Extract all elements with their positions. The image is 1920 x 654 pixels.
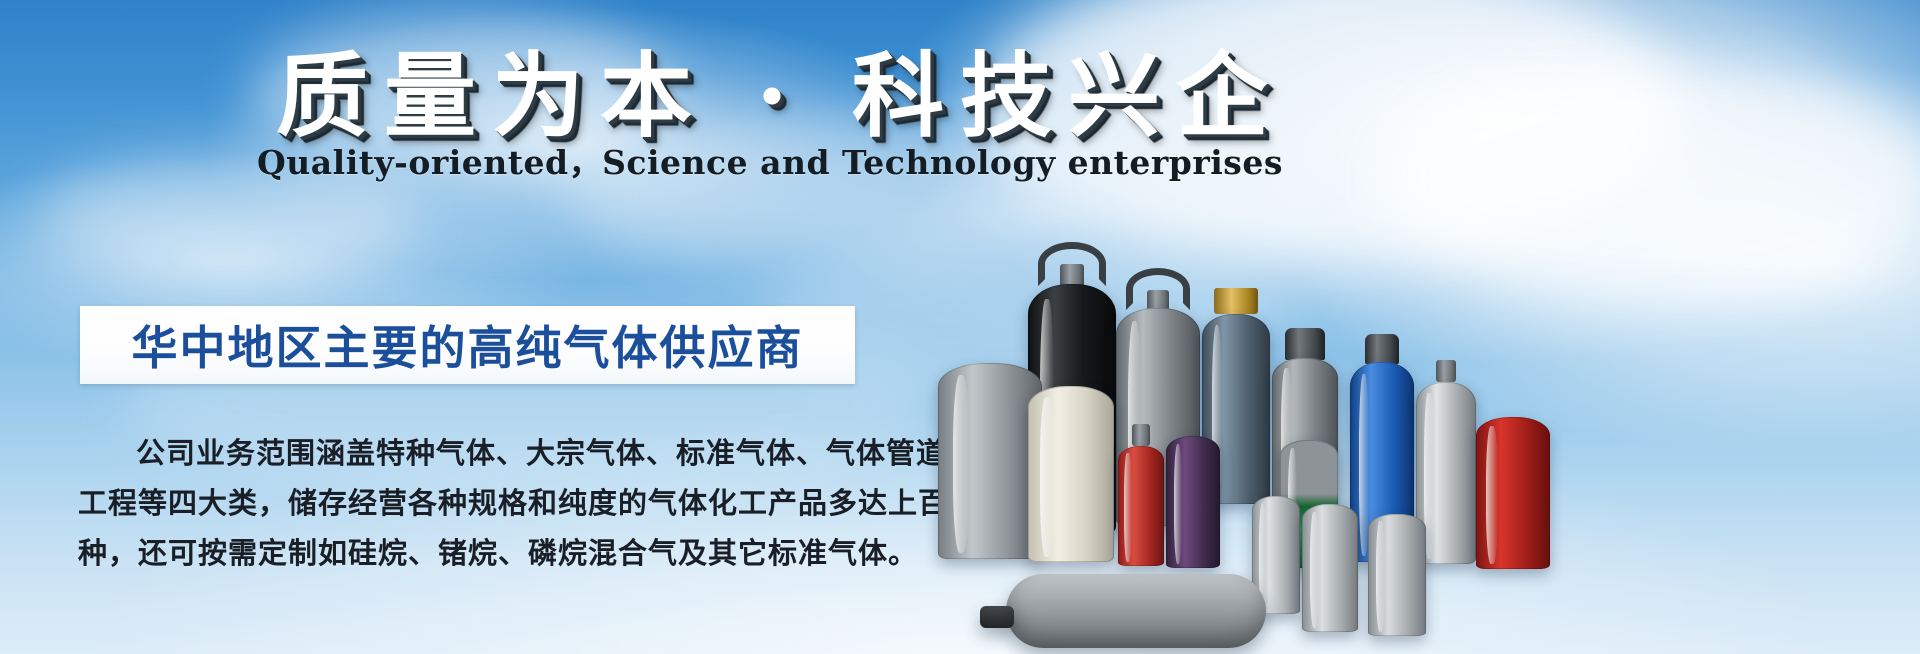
small-silver-cylinder	[1368, 514, 1426, 636]
cylinder-highlight	[1174, 444, 1183, 564]
horizontal-tank-valve	[980, 606, 1014, 628]
slogan-text: 华中地区主要的高纯气体供应商	[132, 312, 804, 378]
light-grey-cylinder	[938, 363, 1042, 559]
banner-body-copy: 公司业务范围涵盖特种气体、大宗气体、标准气体、气体管道 工程等四大类，储存经营各…	[78, 428, 868, 578]
cylinder-highlight	[1124, 453, 1131, 562]
horizontal-grey-tank	[1006, 574, 1266, 648]
body-line-1: 公司业务范围涵盖特种气体、大宗气体、标准气体、气体管道	[78, 428, 868, 478]
gas-cylinder-photo-group	[920, 150, 1920, 654]
cream-cylinder	[1028, 386, 1114, 562]
cylinder-valve-icon	[1436, 360, 1456, 382]
body-line-3: 种，还可按需定制如硅烷、锗烷、磷烷混合气及其它标准气体。	[78, 528, 868, 578]
brass-valve-icon	[1214, 288, 1258, 314]
cylinder-highlight	[1310, 512, 1319, 629]
red-top-cylinder	[1118, 446, 1164, 566]
body-line-2: 工程等四大类，储存经营各种规格和纯度的气体化工产品多达上百	[78, 478, 868, 528]
cylinder-highlight	[953, 375, 970, 553]
small-silver-cylinder	[1302, 504, 1358, 632]
red-cylinder	[1476, 417, 1550, 569]
cylinder-highlight	[1040, 397, 1054, 557]
cylinder-cap-icon	[1285, 328, 1325, 360]
cylinder-valve-icon	[1132, 424, 1150, 446]
cylinder-cap-icon	[1365, 334, 1399, 364]
hero-banner: 质量为本 · 科技兴企 Quality-oriented，Science and…	[0, 0, 1920, 654]
slogan-highlight-box: 华中地区主要的高纯气体供应商	[80, 306, 855, 384]
purple-base-cylinder	[1166, 436, 1220, 568]
cylinder-highlight	[1376, 521, 1385, 632]
cylinder-highlight	[1486, 426, 1498, 564]
